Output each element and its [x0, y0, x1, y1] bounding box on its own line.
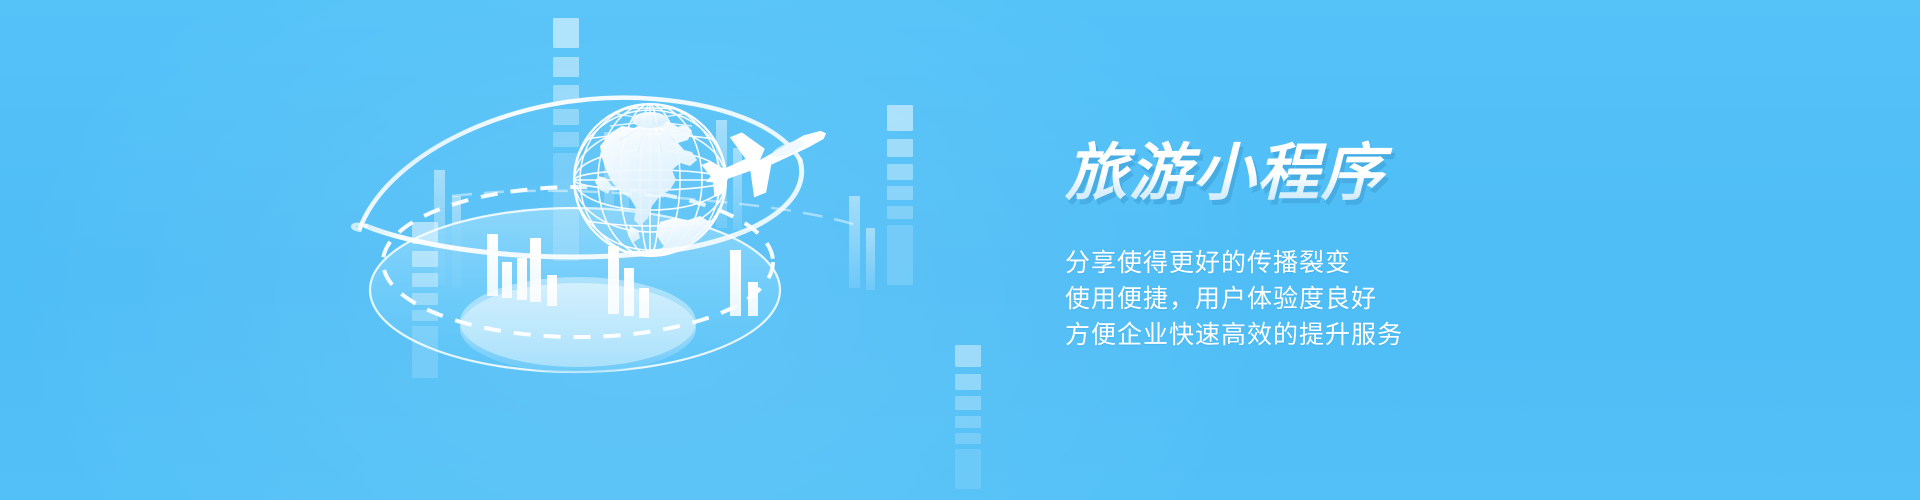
deco-column-mid	[553, 18, 579, 261]
globe-airplane-platform-illustration	[0, 0, 900, 500]
tagline-line-1: 分享使得更好的传播裂变	[1065, 245, 1705, 281]
tagline-line-2: 使用便捷，用户体验度良好	[1065, 281, 1705, 317]
travel-mini-program-banner: 旅游小程序 分享使得更好的传播裂变 使用便捷，用户体验度良好 方便企业快速高效的…	[0, 0, 1920, 500]
banner-text-block: 旅游小程序 分享使得更好的传播裂变 使用便捷，用户体验度良好 方便企业快速高效的…	[1065, 140, 1705, 353]
deco-column-far	[955, 345, 981, 489]
deco-column-right	[887, 105, 913, 285]
tagline-list: 分享使得更好的传播裂变 使用便捷，用户体验度良好 方便企业快速高效的提升服务	[1065, 245, 1705, 353]
page-title: 旅游小程序	[1065, 140, 1705, 205]
wireframe-globe	[574, 104, 726, 258]
tagline-line-3: 方便企业快速高效的提升服务	[1065, 317, 1705, 353]
deco-column-left	[412, 222, 438, 378]
